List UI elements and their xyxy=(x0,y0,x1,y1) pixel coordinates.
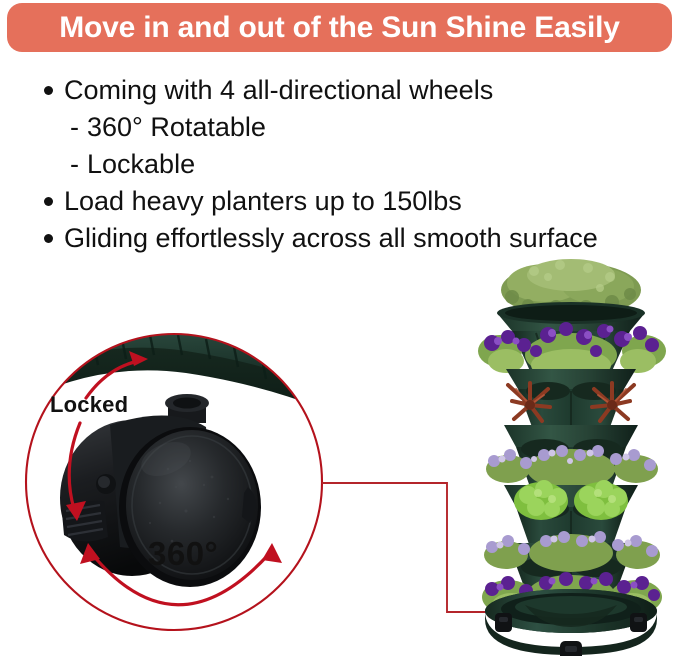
bullet-dot-icon xyxy=(44,234,53,243)
pot-tier-2 xyxy=(506,369,636,427)
list-item: Coming with 4 all-directional wheels xyxy=(44,72,674,109)
bullet-dot-icon xyxy=(44,86,53,95)
feature-text: Load heavy planters up to 150lbs xyxy=(64,183,462,220)
tier-lavender-sprays xyxy=(484,531,660,572)
list-item: - 360° Rotatable xyxy=(44,109,674,146)
page-title: Move in and out of the Sun Shine Easily xyxy=(59,13,620,43)
feature-text: Lockable xyxy=(87,146,195,183)
dash-marker-icon: - xyxy=(70,146,79,183)
tier-lavender-blossoms xyxy=(486,445,658,489)
infographic-canvas: Move in and out of the Sun Shine Easily … xyxy=(0,0,679,656)
header-banner: Move in and out of the Sun Shine Easily xyxy=(7,3,672,52)
list-item: - Lockable xyxy=(44,146,674,183)
bullet-dot-icon xyxy=(44,197,53,206)
feature-list: Coming with 4 all-directional wheels - 3… xyxy=(44,72,674,257)
dash-marker-icon: - xyxy=(70,109,79,146)
feature-text: Gliding effortlessly across all smooth s… xyxy=(64,220,598,257)
feature-text: Coming with 4 all-directional wheels xyxy=(64,72,493,109)
list-item: Gliding effortlessly across all smooth s… xyxy=(44,220,674,257)
illustration-area: Locked 360° xyxy=(0,255,679,656)
list-item: Load heavy planters up to 150lbs xyxy=(44,183,674,220)
rolling-base-tray xyxy=(485,589,657,656)
feature-text: 360° Rotatable xyxy=(87,109,266,146)
tower-planter-product-image xyxy=(0,255,679,656)
